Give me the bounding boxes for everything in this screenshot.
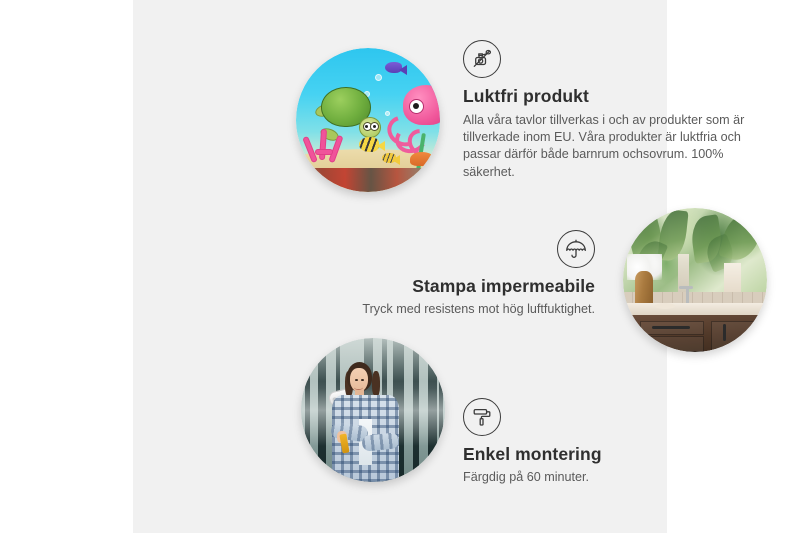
feature-waterproof: Stampa impermeabile Tryck med resistens … xyxy=(333,230,595,318)
infographic-page: Luktfri produkt Alla våra tavlor tillver… xyxy=(0,0,800,533)
paint-roller-icon xyxy=(463,398,501,436)
feature-title: Stampa impermeabile xyxy=(333,276,595,297)
feature-body: Tryck med resistens mot hög luftfuktighe… xyxy=(333,301,595,318)
infographic-canvas: Luktfri produkt Alla våra tavlor tillver… xyxy=(133,0,667,533)
photo-bottom-strip xyxy=(296,168,440,192)
installer-woman xyxy=(324,361,408,482)
coral xyxy=(300,129,349,172)
feature-title: Luktfri produkt xyxy=(463,86,763,107)
bathroom-botanical-wallpaper-photo xyxy=(623,208,767,352)
wooden-cabinet xyxy=(632,315,767,352)
small-yellow-fish xyxy=(382,153,396,163)
butterfly-fish xyxy=(359,137,379,152)
installer-forest-wallpaper-photo xyxy=(301,338,445,482)
feature-odour-free: Luktfri produkt Alla våra tavlor tillver… xyxy=(463,40,763,181)
umbrella-icon xyxy=(557,230,595,268)
starfish xyxy=(410,152,434,166)
feature-title: Enkel montering xyxy=(463,444,743,465)
octopus xyxy=(385,85,440,148)
feature-easy-installation: Enkel montering Färgdig på 60 minuter. xyxy=(463,398,743,486)
no-scent-bottle-icon xyxy=(463,40,501,78)
feature-body: Färgdig på 60 minuter. xyxy=(463,469,743,486)
underwater-cartoon-canvas-photo xyxy=(296,48,440,192)
feature-body: Alla våra tavlor tillverkas i och av pro… xyxy=(463,112,763,181)
purple-fish xyxy=(385,62,402,73)
soap-dish xyxy=(655,303,675,309)
